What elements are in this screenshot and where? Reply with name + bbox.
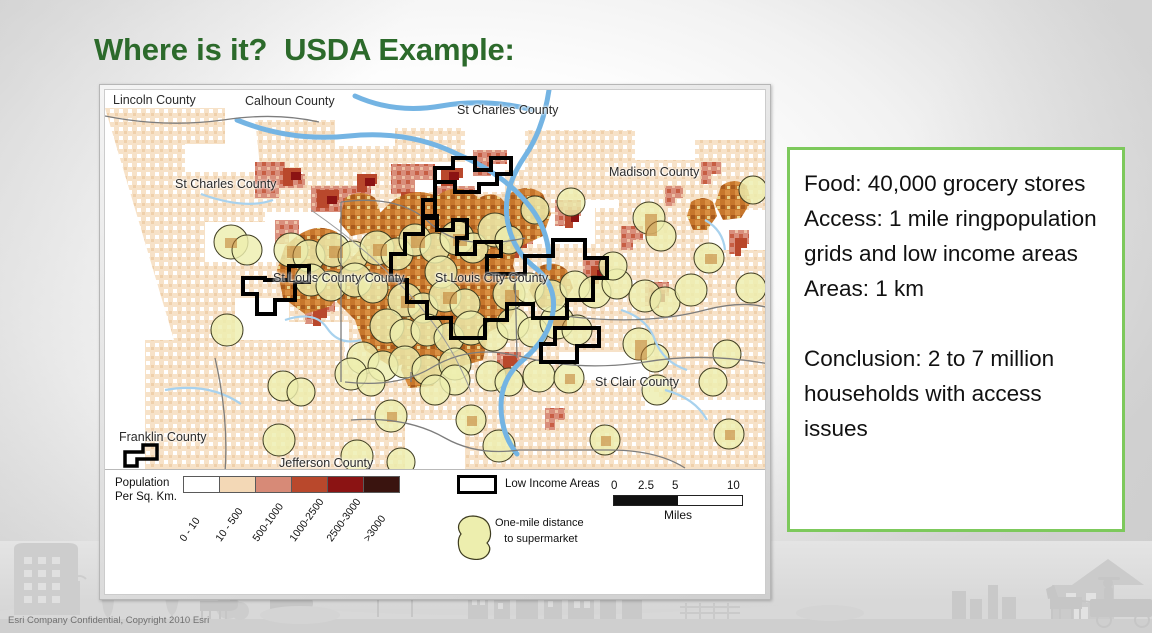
- scale-bar-fill: [614, 496, 678, 505]
- scale-tick-1: 2.5: [638, 480, 654, 492]
- page-title: Where is it? USDA Example:: [94, 32, 515, 68]
- map-canvas[interactable]: Lincoln County Calhoun County St Charles…: [105, 90, 765, 473]
- map-figure[interactable]: Lincoln County Calhoun County St Charles…: [99, 84, 771, 600]
- legend-population-title: Population Per Sq. Km.: [115, 476, 177, 505]
- scale-tick-labels: 0 2.5 5 10: [613, 480, 743, 495]
- legend-low-income-label: Low Income Areas: [505, 478, 600, 490]
- footer-copyright: Esri Company Confidential, Copyright 201…: [8, 615, 209, 626]
- legend-bin-label-2: 500-1000: [250, 501, 286, 544]
- legend-bin-label-4: 2500-3000: [324, 496, 363, 544]
- map-scale-bar: 0 2.5 5 10 Miles: [613, 480, 743, 522]
- scale-unit-label: Miles: [613, 508, 743, 522]
- scale-tick-2: 5: [672, 480, 678, 492]
- legend-swatch-5: [363, 476, 400, 493]
- legend-swatch-row: [183, 476, 399, 493]
- map-legend: Population Per Sq. Km. 0 - 10 10 - 500 5…: [105, 469, 765, 594]
- legend-swatch-3: [291, 476, 328, 493]
- summary-text: Food: 40,000 grocery stores Access: 1 mi…: [804, 166, 1108, 446]
- legend-bin-label-0: 0 - 10: [177, 515, 202, 544]
- legend-bin-label-1: 10 - 500: [213, 506, 245, 544]
- legend-supermarket-label: One-mile distance to supermarket: [495, 516, 584, 548]
- summary-textbox: Food: 40,000 grocery stores Access: 1 mi…: [787, 147, 1125, 532]
- legend-swatch-2: [255, 476, 292, 493]
- legend-swatch-0: [183, 476, 220, 493]
- scale-tick-0: 0: [611, 480, 617, 492]
- legend-low-income-swatch: [457, 475, 497, 494]
- legend-supermarket-buffer-swatch: [453, 514, 493, 565]
- map-inner-frame: Lincoln County Calhoun County St Charles…: [104, 89, 766, 595]
- legend-swatch-4: [327, 476, 364, 493]
- scale-tick-3: 10: [727, 480, 740, 492]
- scale-bar-graphic: [613, 495, 743, 506]
- legend-bin-label-5: >3000: [361, 513, 388, 544]
- legend-swatch-1: [219, 476, 256, 493]
- legend-bin-label-3: 1000-2500: [287, 496, 326, 544]
